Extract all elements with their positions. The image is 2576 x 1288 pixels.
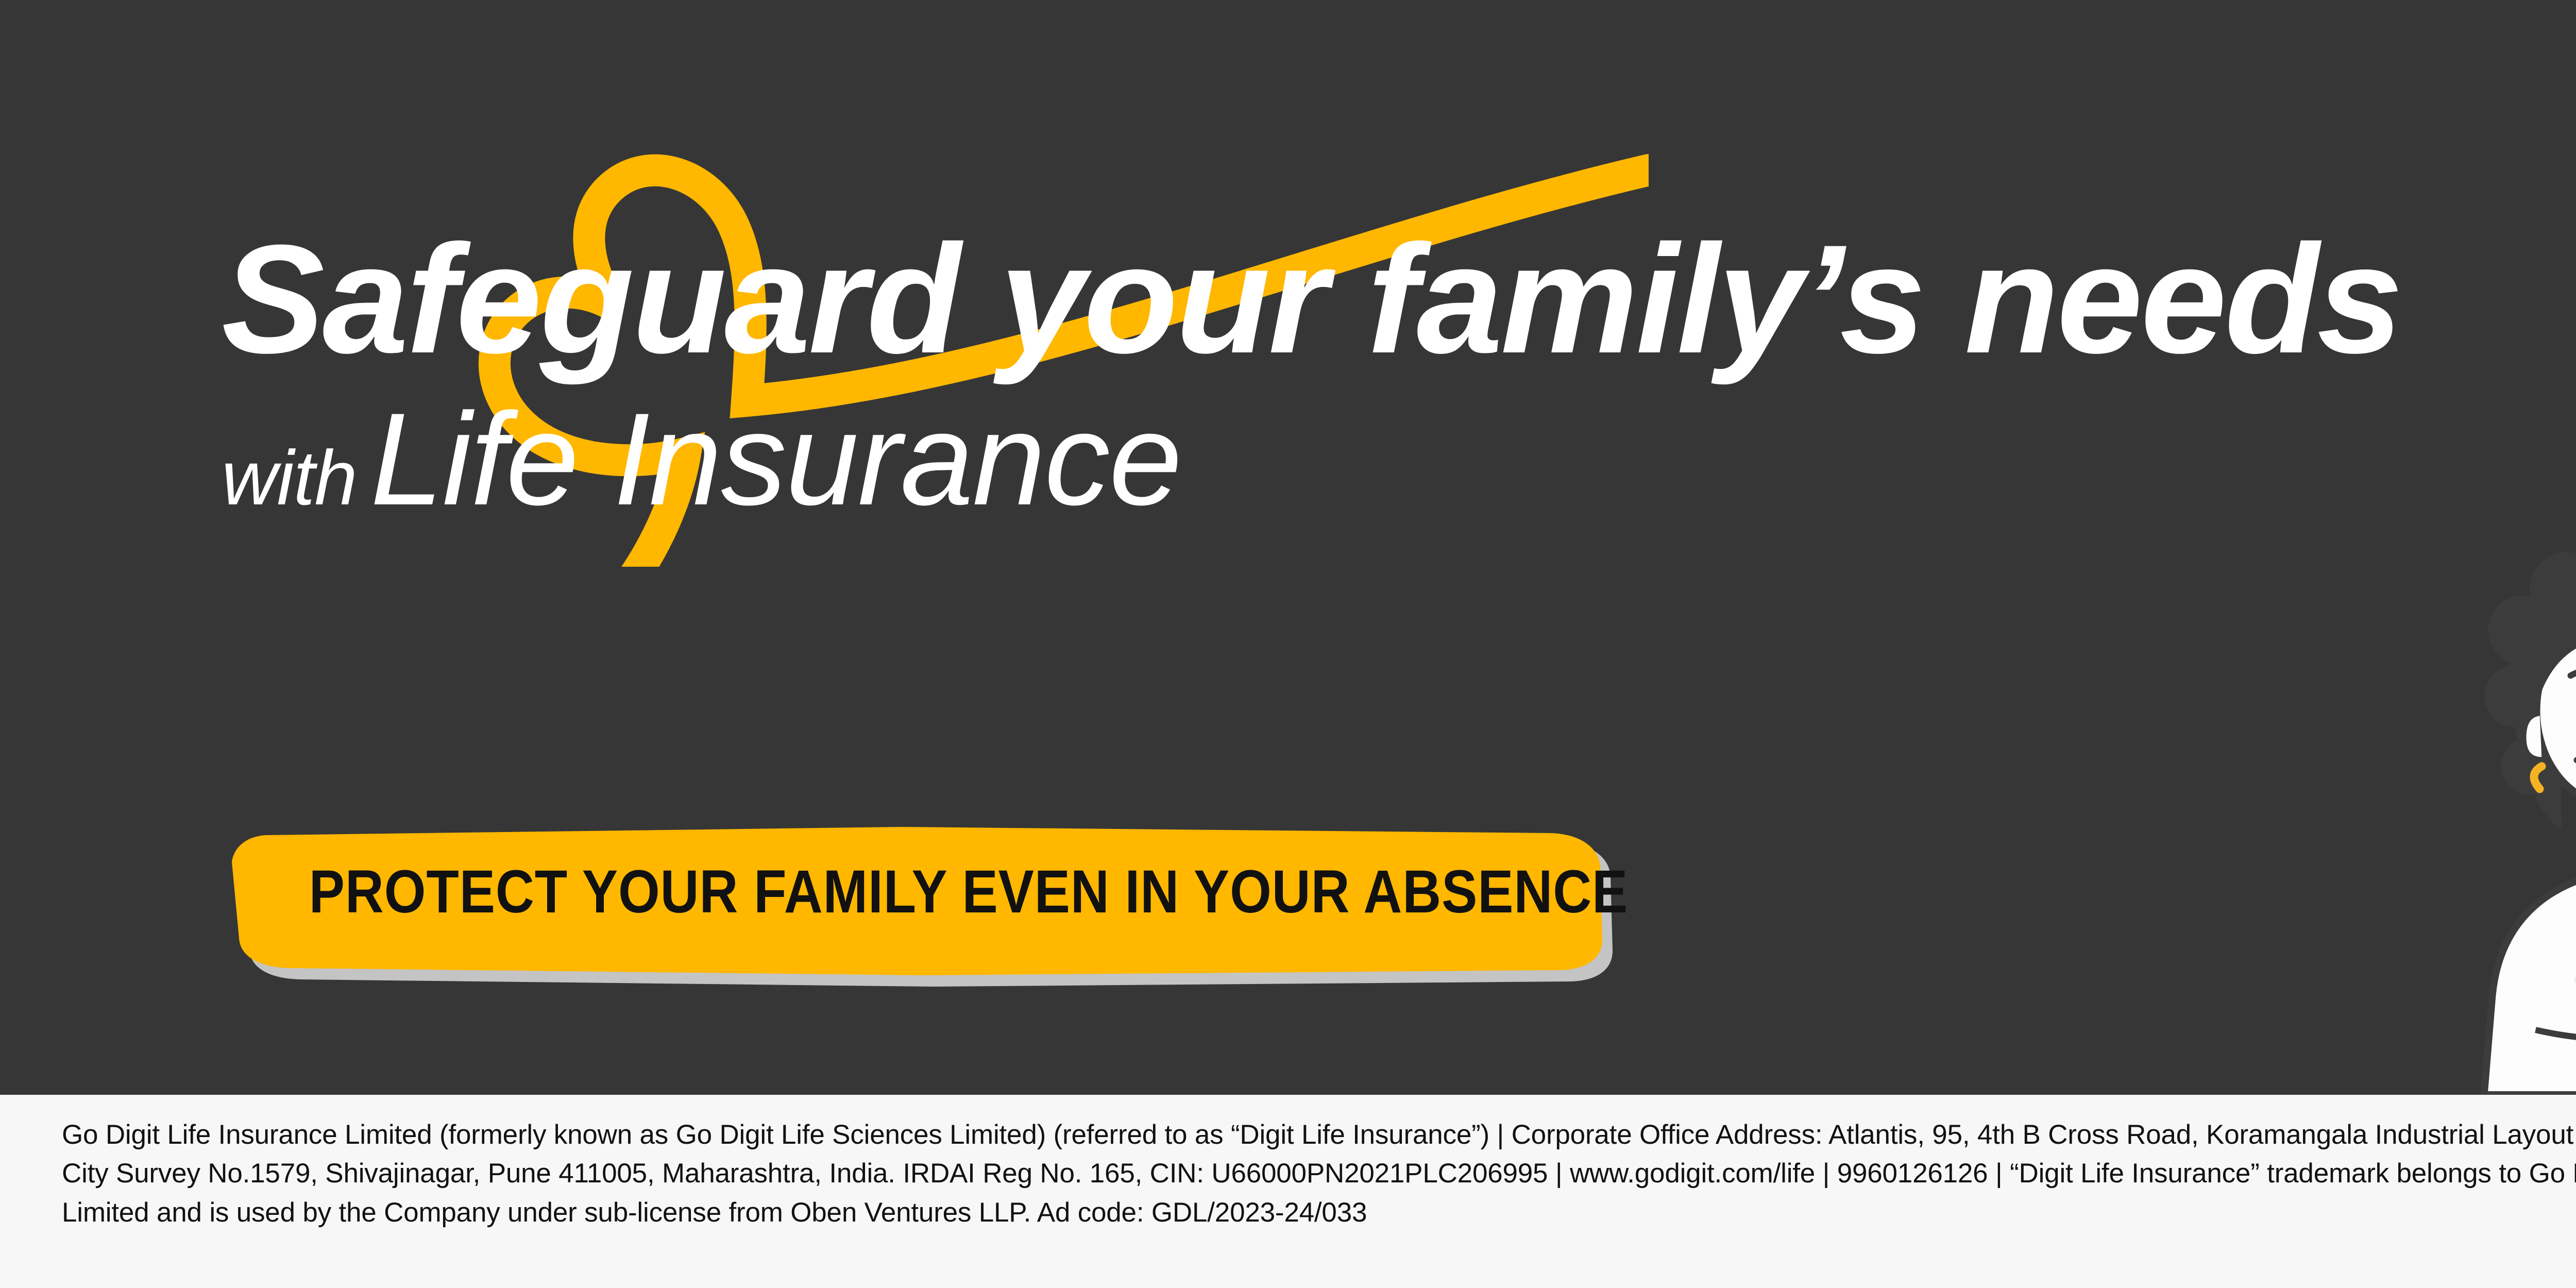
- headline-secondary: withLife Insurance: [222, 394, 2282, 525]
- disclaimer-strip: Go Digit Life Insurance Limited (formerl…: [0, 1095, 2576, 1288]
- family-illustration: [2152, 0, 2576, 1095]
- cta-button[interactable]: PROTECT YOUR FAMILY EVEN IN YOUR ABSENCE: [222, 822, 1747, 987]
- life-insurance-banner: Safeguard your family’s needs withLife I…: [0, 0, 2576, 1288]
- headline-with-word: with: [222, 434, 357, 521]
- headline-product: Life Insurance: [370, 386, 1181, 533]
- character-daughter: [2484, 536, 2576, 1095]
- cta-label: PROTECT YOUR FAMILY EVEN IN YOUR ABSENCE: [311, 822, 1626, 962]
- headline-block: Safeguard your family’s needs withLife I…: [222, 222, 2282, 525]
- disclaimer-text: Go Digit Life Insurance Limited (formerl…: [62, 1115, 2576, 1232]
- headline-primary: Safeguard your family’s needs: [222, 222, 2282, 376]
